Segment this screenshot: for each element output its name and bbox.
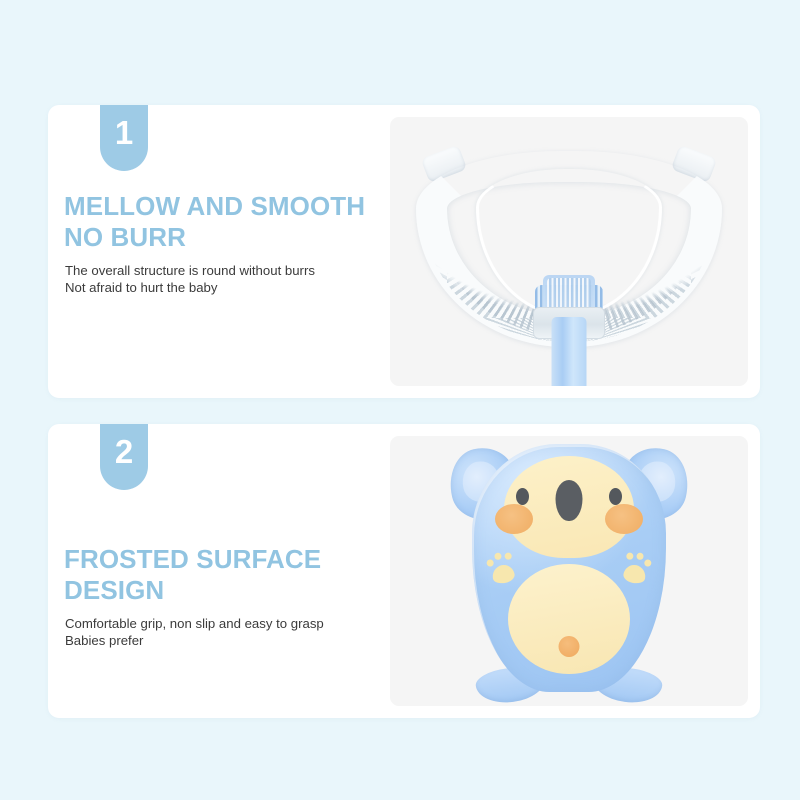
koala-cheek-left-icon — [495, 504, 533, 534]
koala-belly-icon — [508, 564, 630, 674]
koala-paw-print-left-icon — [485, 549, 521, 587]
feature-subtext-2: Comfortable grip, non slip and easy to g… — [65, 615, 394, 650]
feature-headline-1: MELLOW AND SMOOTH NO BURR — [64, 191, 394, 253]
feature-headline-2: FROSTED SURFACE DESIGN — [64, 544, 394, 606]
product-image-panel-1 — [390, 117, 748, 386]
paw-toe-shape — [486, 559, 494, 567]
feature-text-block-2: FROSTED SURFACE DESIGN Comfortable grip,… — [64, 544, 394, 650]
paw-toe-shape — [494, 552, 502, 560]
paw-pad-shape — [491, 563, 516, 585]
step-number-badge-2: 2 — [100, 424, 148, 490]
brush-handle-icon — [552, 317, 587, 386]
koala-navel-icon — [559, 636, 580, 657]
feature-subtext-1: The overall structure is round without b… — [65, 262, 394, 297]
koala-eye-left-icon — [516, 488, 529, 505]
paw-toe-shape — [644, 559, 652, 567]
paw-toe-shape — [626, 552, 634, 560]
koala-cheek-right-icon — [605, 504, 643, 534]
koala-eye-right-icon — [609, 488, 622, 505]
paw-toe-shape — [636, 552, 644, 560]
feature-text-block-1: MELLOW AND SMOOTH NO BURR The overall st… — [64, 191, 394, 297]
koala-nose-icon — [556, 480, 583, 521]
u-shaped-brush-head-illustration — [390, 117, 748, 386]
koala-handle-illustration — [390, 436, 748, 706]
step-number-badge-1: 1 — [100, 105, 148, 171]
paw-toe-shape — [504, 552, 512, 560]
feature-card-2: 2 FROSTED SURFACE DESIGN Comfortable gri… — [48, 424, 760, 718]
feature-card-1: 1 MELLOW AND SMOOTH NO BURR The overall … — [48, 105, 760, 398]
paw-pad-shape — [622, 563, 647, 585]
product-image-panel-2 — [390, 436, 748, 706]
infographic-page: 1 MELLOW AND SMOOTH NO BURR The overall … — [0, 0, 800, 800]
